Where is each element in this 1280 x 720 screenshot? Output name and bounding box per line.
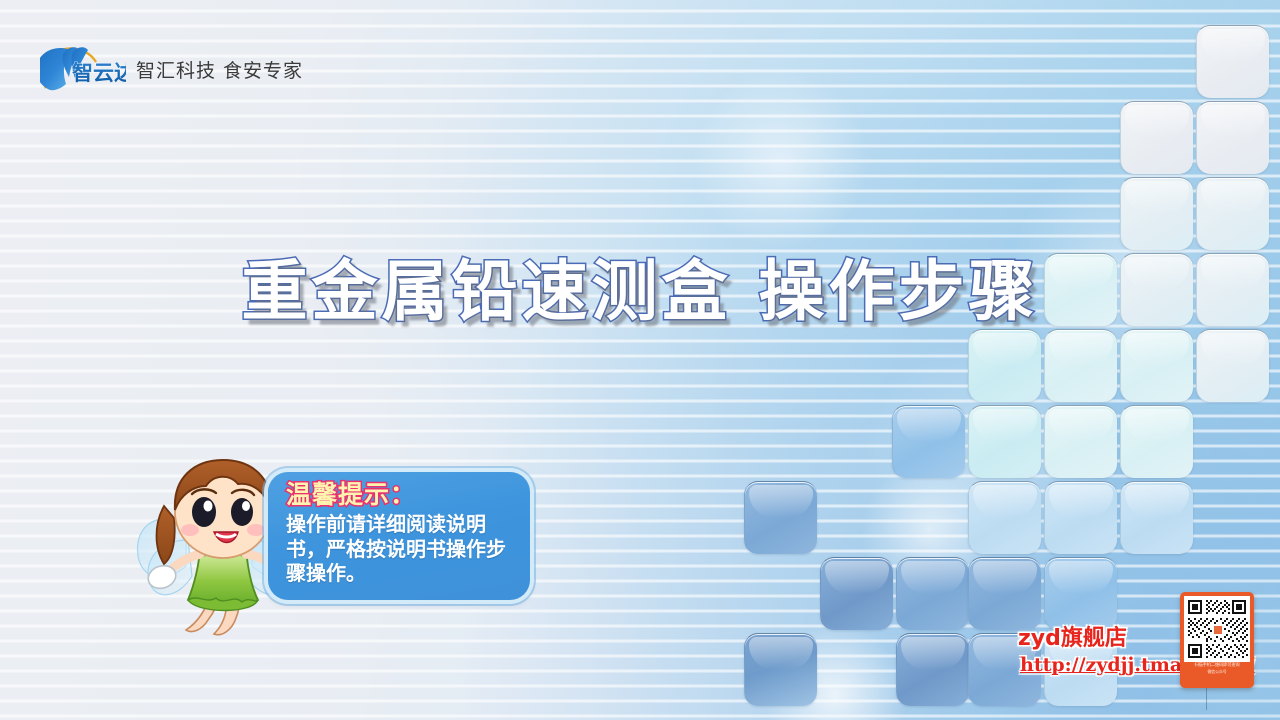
qr-code-icon: [1184, 596, 1250, 662]
decor-square: [1044, 329, 1117, 402]
decor-square: [892, 405, 965, 478]
decor-square: [1044, 481, 1117, 554]
decor-square: [1120, 329, 1193, 402]
decor-square: [744, 481, 817, 554]
brand-logo: 智云达 智汇科技 食安专家: [40, 44, 303, 94]
decor-square: [1196, 329, 1269, 402]
qr-caption-line2: 微信公众号: [1184, 670, 1250, 674]
brand-tagline: 智汇科技 食安专家: [136, 56, 303, 83]
decor-square: [968, 481, 1041, 554]
decor-square: [1196, 101, 1269, 174]
qr-caption-line1: 扫描手机二维码即可查询: [1184, 664, 1250, 669]
shop-name-label: zyd旗舰店: [1018, 620, 1127, 652]
decor-square: [896, 633, 969, 706]
svg-text:智云达: 智云达: [72, 61, 126, 85]
decor-square: [744, 633, 817, 706]
decor-square: [1120, 101, 1193, 174]
decor-square: [1044, 405, 1117, 478]
decor-square: [820, 557, 893, 630]
decor-square: [1196, 25, 1269, 98]
decor-square: [896, 557, 969, 630]
page-title: 重金属铅速测盒 操作步骤: [0, 238, 1280, 334]
decor-square: [1120, 481, 1193, 554]
decor-square: [1120, 405, 1193, 478]
decor-square: [968, 405, 1041, 478]
qr-card-pointer: [1206, 688, 1207, 710]
tip-body-text: 操作前请详细阅读说明书，严格按说明书操作步骤操作。: [286, 512, 516, 585]
qr-code-card[interactable]: 扫描手机二维码即可查询 微信公众号: [1180, 592, 1254, 688]
tip-heading: 温馨提示：: [286, 482, 516, 508]
zhiyunda-hand-logo-icon: 智云达: [40, 44, 126, 94]
tip-callout: 温馨提示： 操作前请详细阅读说明书，严格按说明书操作步骤操作。: [268, 472, 530, 600]
decor-square: [968, 329, 1041, 402]
slide-canvas: 智云达 智汇科技 食安专家 重金属铅速测盒 操作步骤: [0, 0, 1280, 720]
